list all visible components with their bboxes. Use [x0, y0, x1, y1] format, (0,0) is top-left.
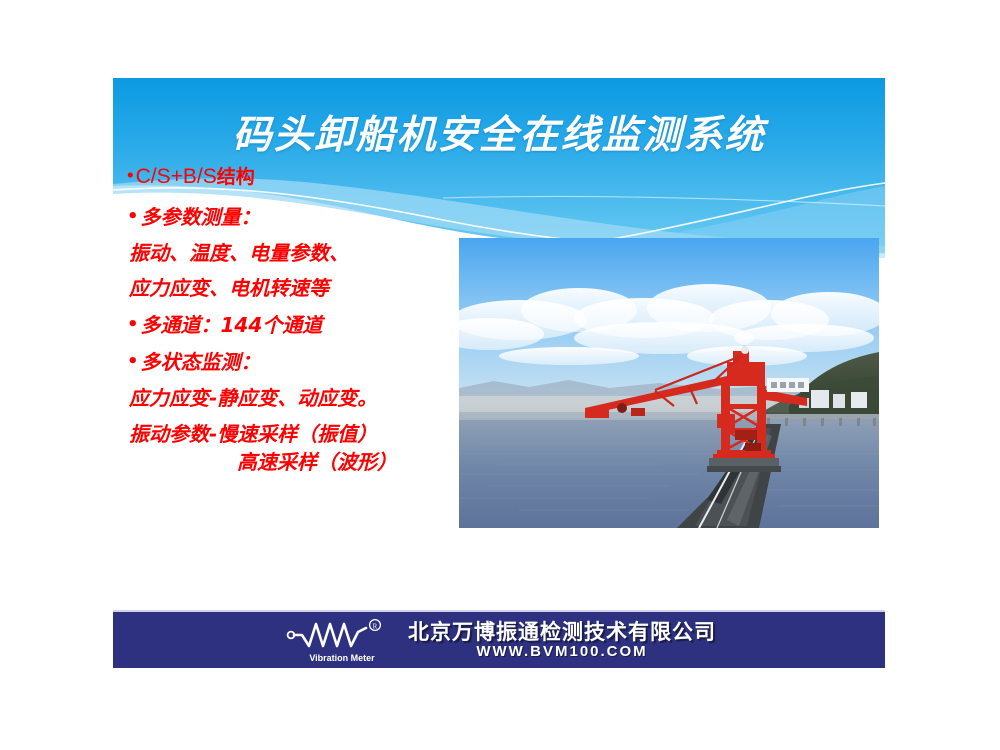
text-state-line1: 应力应变-静应变、动应变。 — [127, 388, 477, 408]
vibration-wave-logo-icon: R — [282, 618, 394, 652]
bullet-multi-state-header: 多状态监测： — [127, 352, 477, 372]
bullet-multi-channel: 多通道：144个通道 — [127, 315, 477, 335]
bullet-cs-bs-en: C/S+B/S — [136, 165, 217, 188]
bullet-content-column: C/S+B/S结构 多参数测量： 振动、温度、电量参数、 应力应变、电机转速等 … — [127, 166, 477, 472]
slide-title: 码头卸船机安全在线监测系统 — [113, 104, 885, 160]
bullet-cs-bs-cn: 结构 — [217, 166, 255, 188]
bullet-cs-bs: C/S+B/S结构 — [127, 166, 477, 187]
text-state-line2: 振动参数-慢速采样（振值） — [127, 424, 477, 444]
presentation-slide: 码头卸船机安全在线监测系统 C/S+B/S结构 多参数测量： 振动、温度、电量参… — [113, 78, 885, 668]
svg-text:R: R — [373, 623, 378, 631]
footer-text-block: 北京万博振通检测技术有限公司 WWW.BVM100.COM — [408, 621, 716, 661]
logo-subtitle: Vibration Meter — [290, 653, 394, 663]
text-multi-param-line2: 应力应变、电机转速等 — [127, 278, 477, 298]
company-website[interactable]: WWW.BVM100.COM — [476, 643, 647, 661]
company-name: 北京万博振通检测技术有限公司 — [408, 621, 716, 643]
text-multi-param-line1: 振动、温度、电量参数、 — [127, 243, 477, 263]
text-state-line3: 高速采样（波形） — [127, 452, 477, 472]
bullet-multi-param-header: 多参数测量： — [127, 207, 477, 227]
company-logo: R Vibration Meter — [282, 618, 394, 664]
footer-bar: R Vibration Meter 北京万博振通检测技术有限公司 WWW.BVM… — [113, 610, 885, 668]
ship-unloader-photo — [459, 238, 879, 528]
